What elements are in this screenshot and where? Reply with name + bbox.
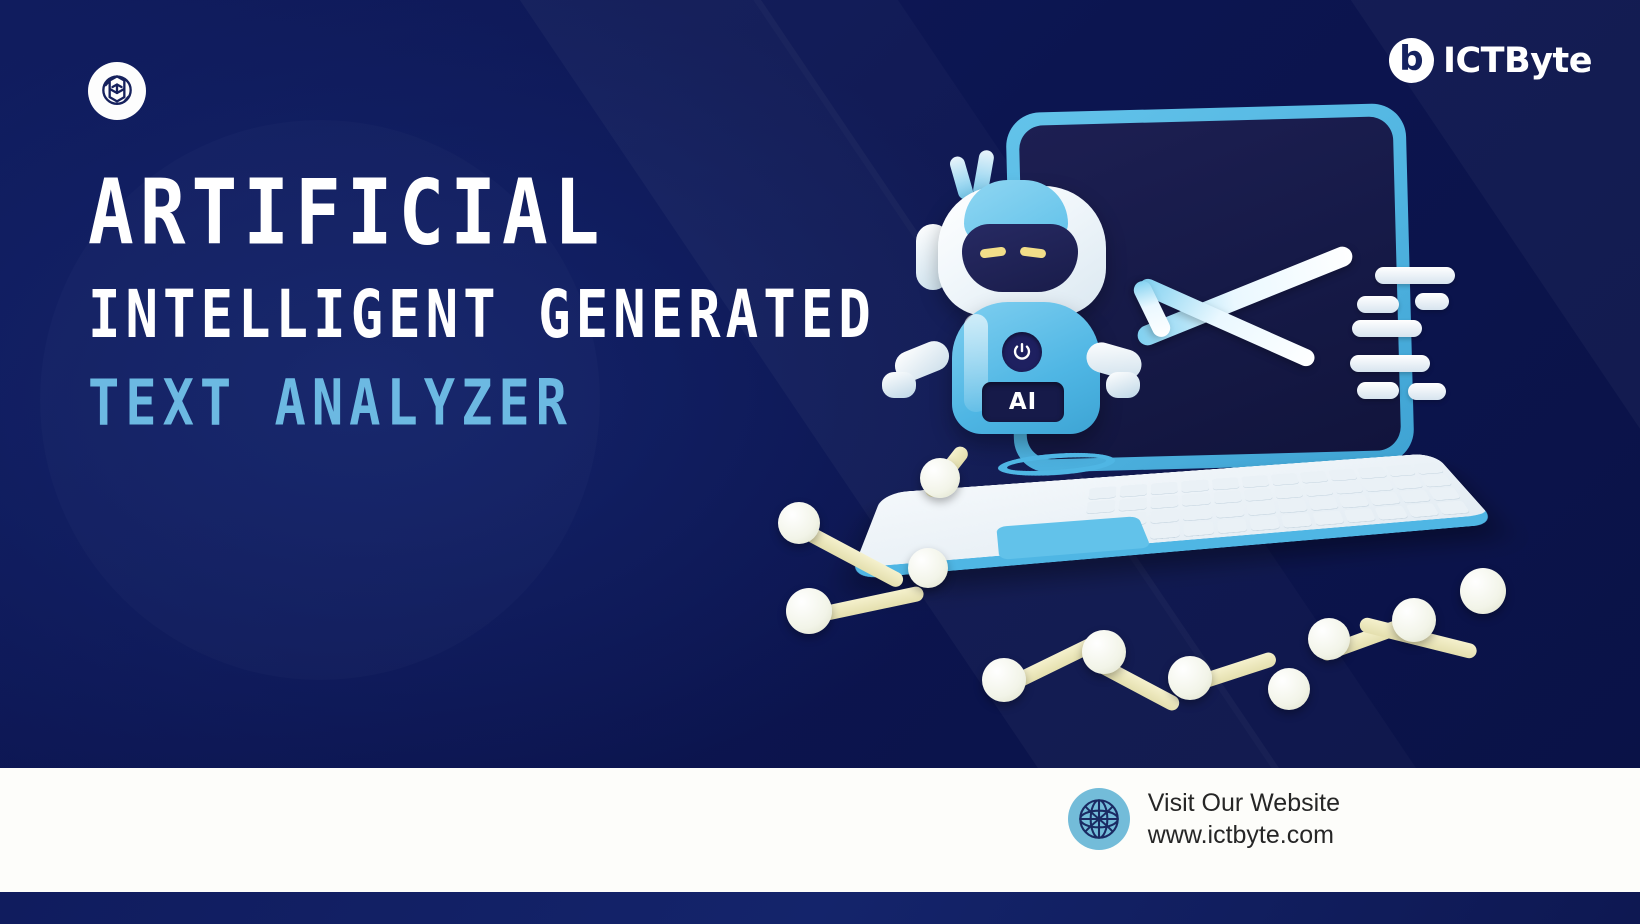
- footer-band: Visit Our Website www.ictbyte.com: [0, 768, 1640, 892]
- molecule-node: [778, 502, 820, 544]
- robot-hand-left: [882, 372, 916, 398]
- molecule-node: [1268, 668, 1310, 710]
- molecule-node: [982, 658, 1026, 702]
- molecule-node: [920, 458, 960, 498]
- circle-b-icon: b: [1389, 38, 1434, 83]
- brand-name: ICTByte: [1443, 41, 1592, 81]
- ai-robot-laptop-illustration: AI: [760, 90, 1540, 700]
- headline-block: ARTIFICIAL INTELLIGENT GENERATED TEXT AN…: [88, 168, 876, 424]
- cta-url[interactable]: www.ictbyte.com: [1148, 821, 1340, 850]
- molecule-node: [1460, 568, 1506, 614]
- headline-line-2: INTELLIGENT GENERATED: [88, 282, 876, 348]
- molecule-node: [1168, 656, 1212, 700]
- molecule-node: [1308, 618, 1350, 660]
- headline-line-1: ARTIFICIAL: [88, 168, 876, 258]
- robot-hand-right: [1106, 372, 1140, 398]
- bottom-strip: [0, 892, 1640, 924]
- molecule-node: [908, 548, 948, 588]
- power-button-icon: [1002, 332, 1042, 372]
- brand-logo: b ICTByte: [1389, 38, 1592, 83]
- molecule-node: [1392, 598, 1436, 642]
- robot-ai-badge: AI: [982, 382, 1064, 422]
- molecule-node: [1082, 630, 1126, 674]
- brand-badge-letter: b: [1399, 42, 1423, 76]
- globe-icon: [1068, 788, 1130, 850]
- robot-ai-badge-label: AI: [1009, 389, 1037, 415]
- cta-text-block: Visit Our Website www.ictbyte.com: [1148, 789, 1340, 850]
- cta-title: Visit Our Website: [1148, 789, 1340, 818]
- headline-line-3: TEXT ANALYZER: [88, 372, 876, 435]
- banner-poster: b ICTByte ARTIFICIAL INTELLIGENT GENERAT…: [0, 0, 1640, 924]
- website-cta[interactable]: Visit Our Website www.ictbyte.com: [1068, 788, 1340, 850]
- robot-visor: [962, 224, 1078, 292]
- molecule-node: [786, 588, 832, 634]
- openai-logo-icon: [88, 62, 146, 120]
- molecule-network: [760, 420, 1540, 700]
